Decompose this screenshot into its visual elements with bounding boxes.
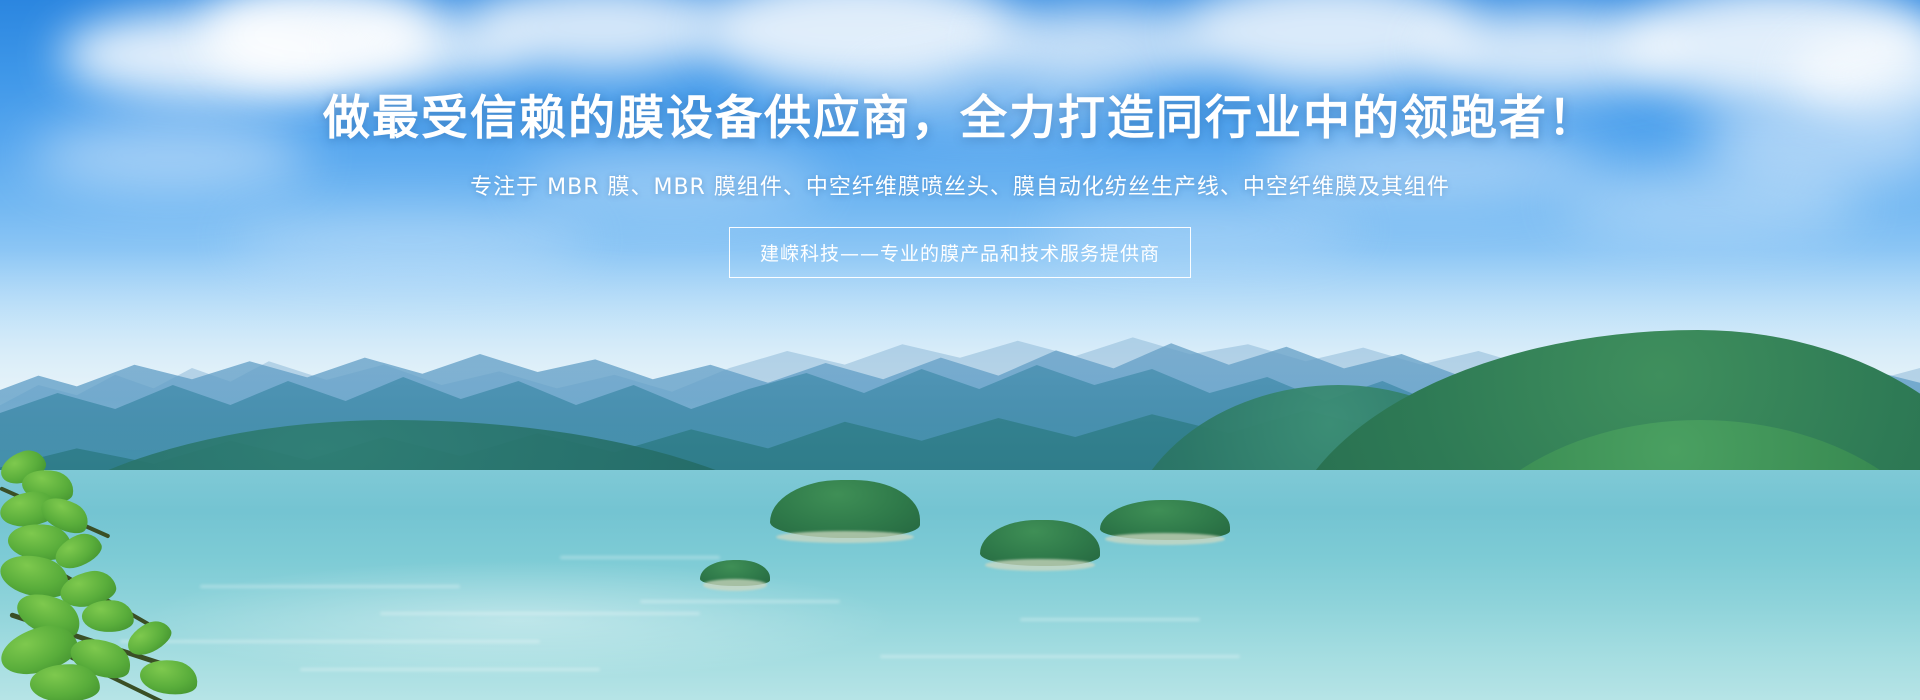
cloud-puff (520, 150, 820, 210)
lake-sun-glare (140, 560, 900, 680)
water-ripple (1020, 618, 1200, 621)
water-ripple (640, 600, 840, 603)
island-shoreline (776, 531, 914, 543)
lake-island (980, 520, 1100, 566)
island-shoreline (985, 559, 1095, 571)
cloud-puff (1260, 130, 1600, 200)
lake-island (700, 560, 770, 586)
water-ripple (300, 668, 600, 671)
water-ripple (120, 640, 540, 643)
water-ripple (380, 612, 700, 615)
cloud-puff (30, 120, 310, 190)
island-shoreline (703, 579, 767, 591)
island-shoreline (1105, 533, 1225, 545)
cloud-puff (860, 60, 1120, 124)
lake-island (1100, 500, 1230, 540)
hero-banner: 做最受信赖的膜设备供应商，全力打造同行业中的领跑者！ 专注于 MBR 膜、MBR… (0, 0, 1920, 700)
water-ripple (880, 655, 1240, 658)
lake-island (770, 480, 920, 538)
water-ripple (560, 556, 720, 559)
island-tree-mass (770, 480, 920, 538)
water-ripple (200, 585, 460, 588)
